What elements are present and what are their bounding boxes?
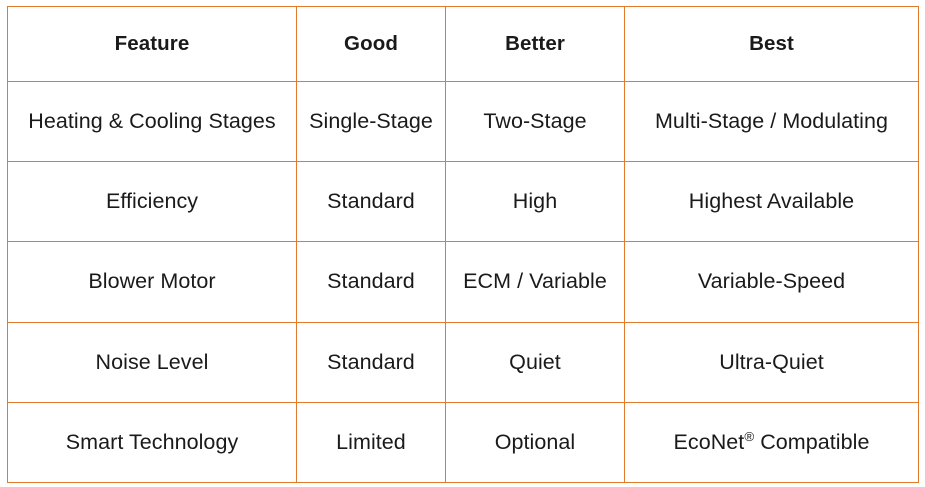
cell-best-suffix: Compatible (754, 430, 869, 454)
column-header-feature: Feature (8, 7, 297, 82)
cell-good: Standard (297, 242, 446, 322)
table-row: Efficiency Standard High Highest Availab… (8, 162, 919, 242)
table-row: Noise Level Standard Quiet Ultra-Quiet (8, 322, 919, 402)
feature-comparison-table: Feature Good Better Best Heating & Cooli… (7, 6, 919, 483)
cell-best-text: Ultra-Quiet (719, 350, 824, 374)
cell-best-text: EcoNet (674, 430, 745, 454)
table-row: Heating & Cooling Stages Single-Stage Tw… (8, 82, 919, 162)
table-header: Feature Good Better Best (8, 7, 919, 82)
cell-good: Standard (297, 322, 446, 402)
table-row: Blower Motor Standard ECM / Variable Var… (8, 242, 919, 322)
cell-feature: Smart Technology (8, 402, 297, 482)
cell-better: Optional (446, 402, 625, 482)
cell-good: Standard (297, 162, 446, 242)
cell-best: Ultra-Quiet (625, 322, 919, 402)
cell-feature: Blower Motor (8, 242, 297, 322)
cell-good: Limited (297, 402, 446, 482)
table-body: Heating & Cooling Stages Single-Stage Tw… (8, 82, 919, 483)
cell-better: Two-Stage (446, 82, 625, 162)
header-row: Feature Good Better Best (8, 7, 919, 82)
cell-best: EcoNet® Compatible (625, 402, 919, 482)
cell-best-text: Multi-Stage / Modulating (655, 109, 888, 133)
cell-best-text: Highest Available (689, 189, 854, 213)
cell-feature: Heating & Cooling Stages (8, 82, 297, 162)
table-row: Smart Technology Limited Optional EcoNet… (8, 402, 919, 482)
cell-better: High (446, 162, 625, 242)
cell-better: ECM / Variable (446, 242, 625, 322)
cell-best-text: Variable-Speed (698, 269, 845, 293)
column-header-good: Good (297, 7, 446, 82)
cell-best: Multi-Stage / Modulating (625, 82, 919, 162)
cell-feature: Noise Level (8, 322, 297, 402)
comparison-table-container: Feature Good Better Best Heating & Cooli… (7, 6, 918, 482)
cell-best: Variable-Speed (625, 242, 919, 322)
cell-best: Highest Available (625, 162, 919, 242)
cell-better: Quiet (446, 322, 625, 402)
column-header-best: Best (625, 7, 919, 82)
cell-feature: Efficiency (8, 162, 297, 242)
registered-trademark-icon: ® (744, 429, 754, 444)
column-header-better: Better (446, 7, 625, 82)
cell-good: Single-Stage (297, 82, 446, 162)
